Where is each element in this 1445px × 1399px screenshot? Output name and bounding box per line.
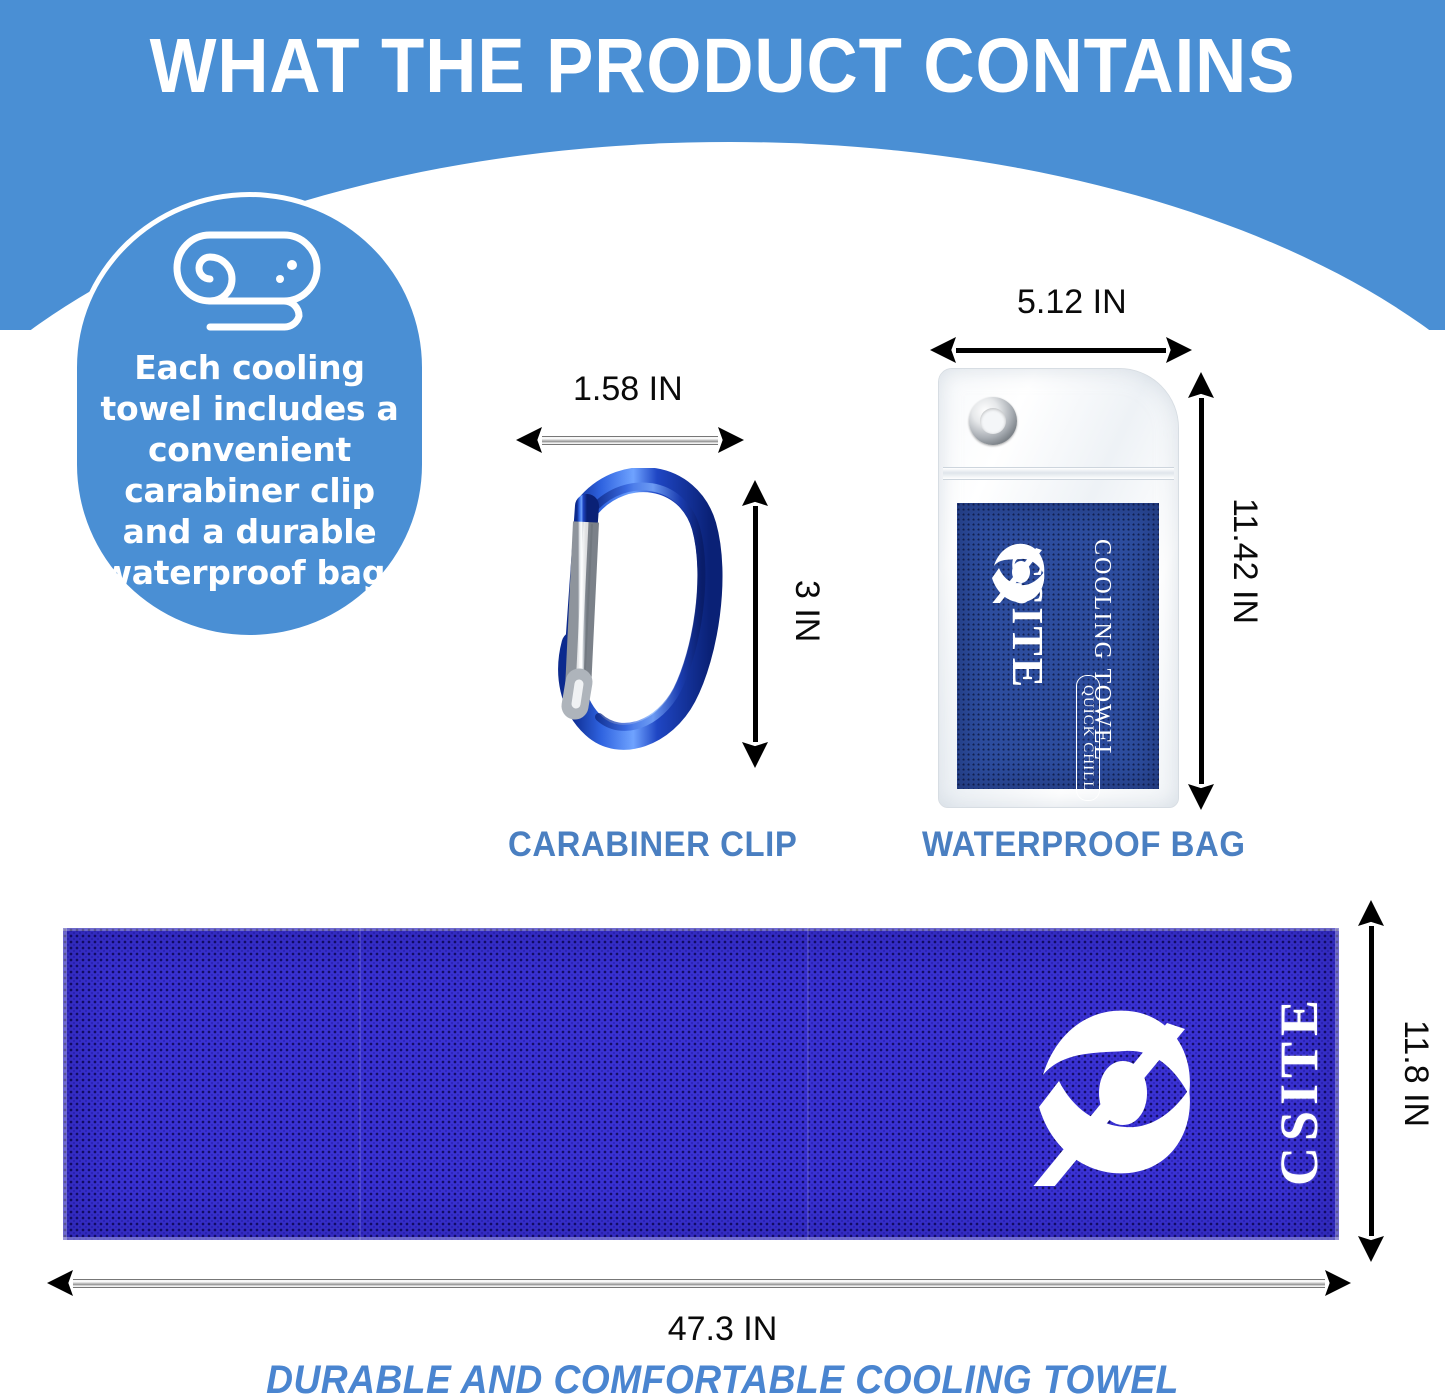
towel-hem-bottom — [63, 1237, 1339, 1240]
arrow-shaft — [73, 1279, 1325, 1288]
callout-text: Each cooling towel includes a convenient… — [91, 347, 409, 593]
bag-height-arrow — [1188, 372, 1214, 810]
arrow-head-left — [516, 427, 542, 453]
towel-hem-left — [63, 928, 67, 1240]
bag-width-dimension: 5.12 IN — [1017, 283, 1127, 322]
arrow-shaft — [753, 506, 758, 742]
carabiner-clip-image — [538, 468, 728, 760]
arrow-shaft — [542, 436, 718, 445]
cooling-towel-image: CSITE — [63, 928, 1339, 1240]
rolled-towel-icon — [166, 225, 334, 337]
grommet-hole — [980, 408, 1007, 435]
bag-width-arrow — [930, 337, 1192, 363]
callout-card: Each cooling towel includes a convenient… — [72, 192, 427, 640]
arrow-head-right — [1325, 1270, 1351, 1296]
arrow-head-bottom — [1358, 1236, 1384, 1262]
arrow-head-top — [1188, 372, 1214, 398]
towel-fold-line — [807, 928, 809, 1240]
arrow-head-top — [1358, 900, 1384, 926]
carabiner-clip-label: CARABINER CLIP — [508, 825, 797, 865]
folded-towel-in-bag: CSITE COOLING TOWEL QUICK CHILL — [957, 503, 1159, 789]
bag-zip-seal — [943, 467, 1174, 480]
bag-height-dimension: 11.42 IN — [1225, 498, 1264, 624]
towel-hem-right — [1335, 928, 1339, 1240]
towel-fold-line — [359, 928, 361, 1240]
towel-height-arrow — [1358, 900, 1384, 1262]
folded-towel-badge-text: QUICK CHILL — [1080, 685, 1096, 791]
towel-hem-top — [63, 928, 1339, 931]
waterproof-bag-image: CSITE COOLING TOWEL QUICK CHILL — [938, 368, 1179, 808]
arrow-head-right — [1166, 337, 1192, 363]
page-title: WHAT THE PRODUCT CONTAINS — [58, 22, 1387, 111]
bag-grommet-icon — [969, 397, 1017, 445]
folded-towel-brand: CSITE — [1002, 547, 1053, 689]
infographic-canvas: WHAT THE PRODUCT CONTAINS Each cooling t… — [0, 0, 1445, 1399]
waterproof-bag-label: WATERPROOF BAG — [922, 825, 1245, 865]
arrow-head-left — [930, 337, 956, 363]
arrow-head-left — [47, 1270, 73, 1296]
carabiner-width-dimension: 1.58 IN — [573, 370, 683, 409]
arrow-shaft — [956, 348, 1166, 353]
arrow-head-top — [742, 480, 768, 506]
towel-height-dimension: 11.8 IN — [1396, 1020, 1435, 1127]
towel-logo-mark-icon — [1018, 1000, 1218, 1186]
towel-brand-text: CSITE — [1268, 994, 1330, 1186]
towel-width-arrow — [47, 1270, 1351, 1296]
arrow-head-right — [718, 427, 744, 453]
towel-width-dimension: 47.3 IN — [0, 1310, 1445, 1349]
arrow-shaft — [1369, 926, 1374, 1236]
arrow-head-bottom — [1188, 784, 1214, 810]
arrow-head-bottom — [742, 742, 768, 768]
folded-towel-badge: QUICK CHILL — [1076, 675, 1100, 801]
carabiner-width-arrow — [516, 427, 744, 453]
carabiner-height-dimension: 3 IN — [787, 580, 826, 642]
carabiner-height-arrow — [742, 480, 768, 768]
arrow-shaft — [1199, 398, 1204, 784]
footer-caption: DURABLE AND COMFORTABLE COOLING TOWEL — [51, 1358, 1395, 1399]
